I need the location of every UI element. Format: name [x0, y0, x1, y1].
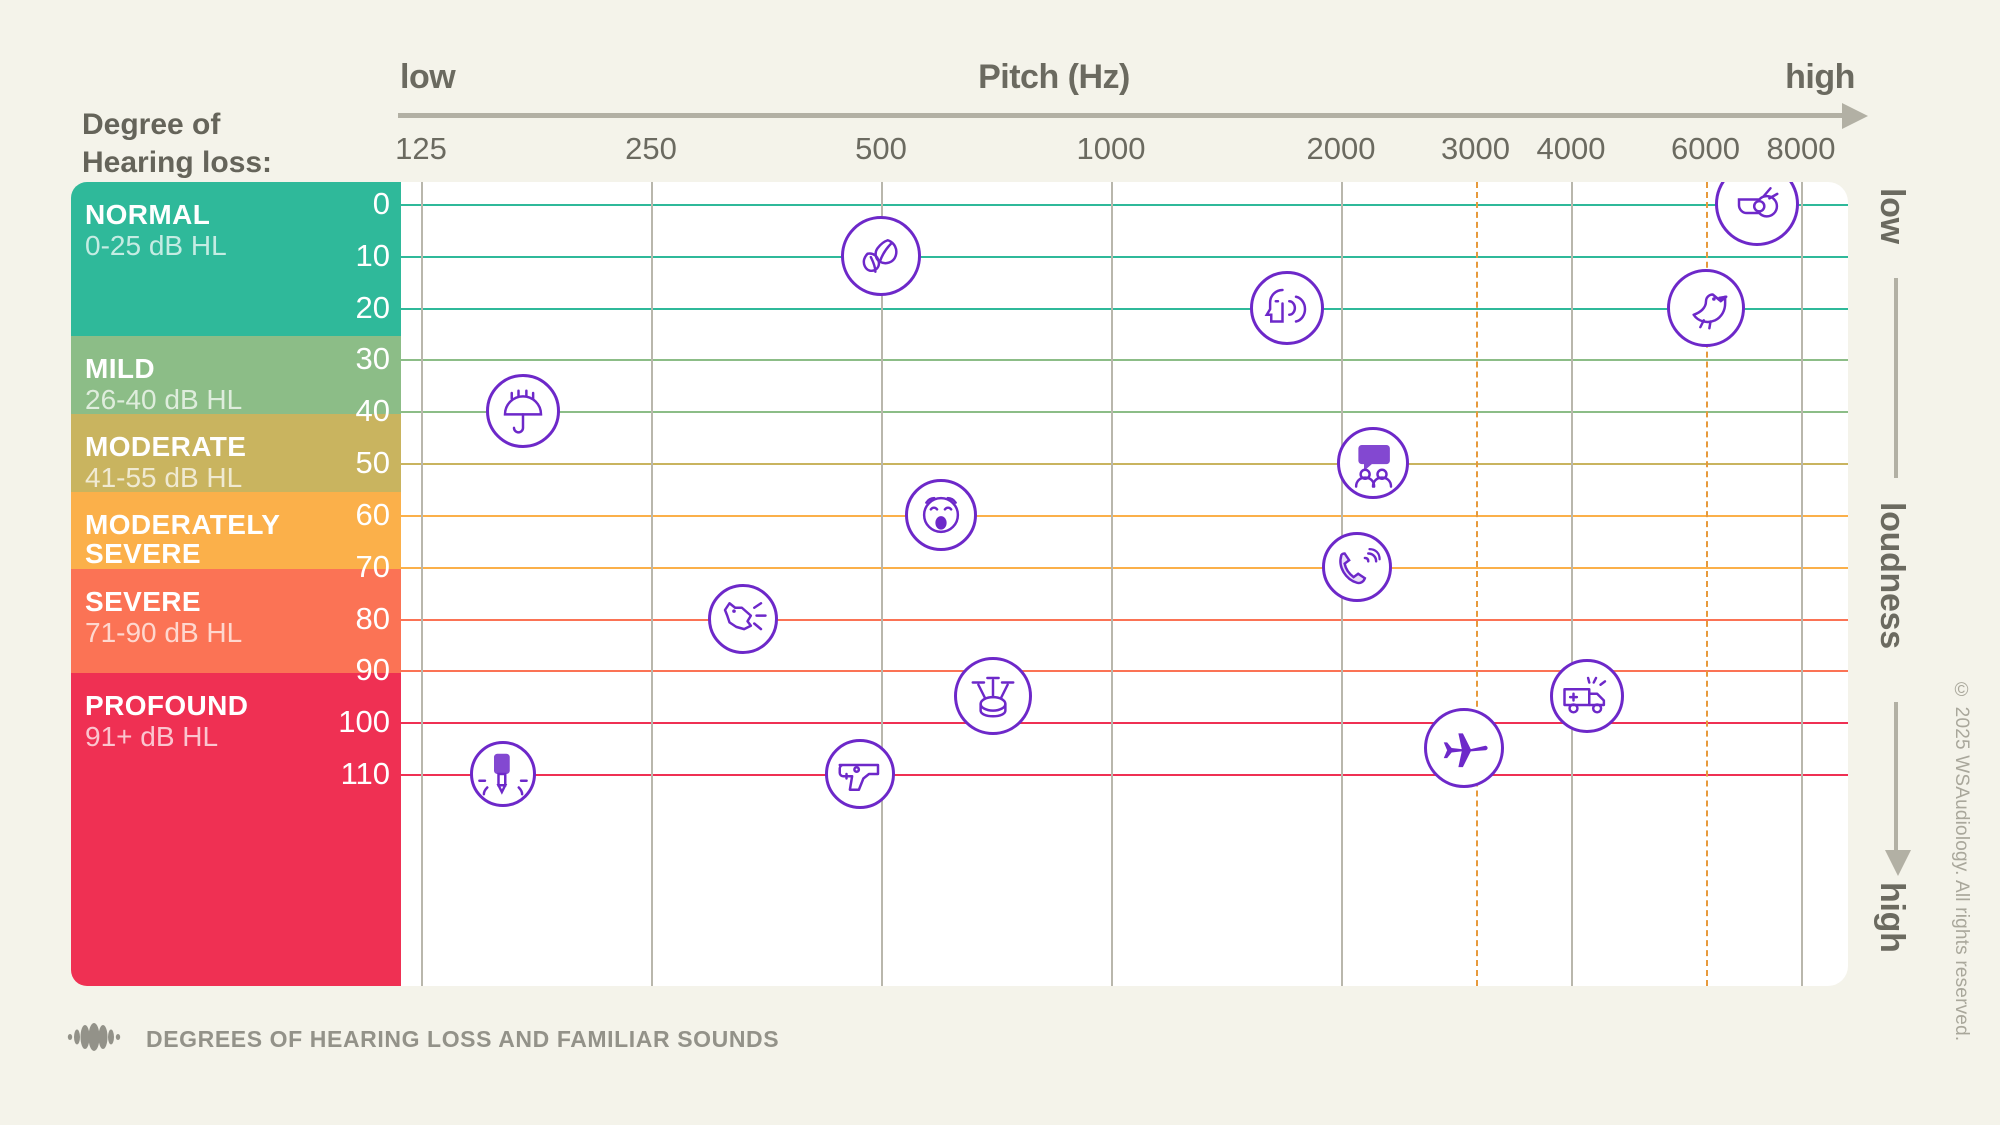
- gridline-h-70: [401, 567, 1848, 569]
- band-title: PROFOUND: [85, 691, 248, 721]
- conversation-icon: [1337, 427, 1409, 499]
- drums-icon: [954, 657, 1032, 735]
- pitch-tick-125: 125: [395, 131, 447, 167]
- loudness-tick-60: 60: [356, 497, 390, 533]
- whistle-icon: [1715, 182, 1799, 246]
- band-normal: NORMAL0-25 dB HL: [71, 182, 401, 336]
- pitch-high-label: high: [1785, 58, 1855, 97]
- soundwave-icon: [66, 1022, 124, 1057]
- gridline-h-60: [401, 515, 1848, 517]
- loudness-arrow-icon: [1885, 850, 1911, 876]
- heading-line-2: Hearing loss:: [82, 146, 272, 179]
- copyright-text: © 2025 WSAudiology. All rights reserved.: [1950, 680, 1972, 1041]
- pitch-tick-8000: 8000: [1767, 131, 1836, 167]
- loudness-high-label: high: [1872, 882, 1911, 953]
- band-range: 26-40 dB HL: [85, 385, 242, 416]
- baby-icon: [905, 479, 977, 551]
- gridline-v-1000: [1111, 182, 1113, 986]
- gridline-v-8000: [1801, 182, 1803, 986]
- pitch-tick-6000: 6000: [1671, 131, 1740, 167]
- degree-of-hearing-loss-heading: Degree of Hearing loss:: [82, 106, 272, 181]
- pitch-arrow-icon: [1842, 103, 1868, 129]
- loudness-axis-title: loudness: [1872, 502, 1911, 649]
- pitch-tick-4000: 4000: [1537, 131, 1606, 167]
- ambulance-icon: [1550, 659, 1624, 733]
- audiogram-plot: [401, 182, 1848, 986]
- gridline-h-10: [401, 256, 1848, 258]
- loudness-tick-20: 20: [356, 290, 390, 326]
- gridline-v-4000: [1571, 182, 1573, 986]
- gridline-h-40: [401, 411, 1848, 413]
- loudness-tick-40: 40: [356, 393, 390, 429]
- heading-line-1: Degree of: [82, 108, 220, 141]
- loudness-low-label: low: [1872, 188, 1911, 244]
- severity-band-legend: NORMAL0-25 dB HLMILD26-40 dB HLMODERATE4…: [71, 182, 401, 986]
- pitch-axis-title: Pitch (Hz): [978, 58, 1130, 97]
- gridline-v-125: [421, 182, 423, 986]
- gun-icon: [825, 739, 895, 809]
- loudness-tick-10: 10: [356, 238, 390, 274]
- band-range: 91+ dB HL: [85, 722, 218, 753]
- band-title: MODERATE: [85, 432, 246, 462]
- loudness-tick-70: 70: [356, 549, 390, 585]
- loudness-tick-0: 0: [373, 186, 390, 222]
- dog-icon: [708, 584, 778, 654]
- loudness-tick-90: 90: [356, 652, 390, 688]
- band-severe: SEVERE71-90 dB HL: [71, 569, 401, 673]
- pitch-tick-3000: 3000: [1441, 131, 1510, 167]
- band-moderate: MODERATE41-55 dB HL: [71, 414, 401, 492]
- pitch-tick-2000: 2000: [1307, 131, 1376, 167]
- loudness-tick-30: 30: [356, 341, 390, 377]
- band-range: 41-55 dB HL: [85, 463, 242, 494]
- airplane-icon: [1424, 708, 1504, 788]
- footer-caption: DEGREES OF HEARING LOSS AND FAMILIAR SOU…: [146, 1026, 779, 1053]
- loudness-axis-line-bottom: [1894, 702, 1898, 852]
- pitch-tick-500: 500: [855, 131, 907, 167]
- gridline-h-110: [401, 774, 1848, 776]
- gridline-h-20: [401, 308, 1848, 310]
- band-title: MILD: [85, 354, 155, 384]
- umbrella-icon: [486, 374, 560, 448]
- band-title: NORMAL: [85, 200, 210, 230]
- loudness-tick-110: 110: [341, 756, 390, 792]
- leaves-icon: [841, 216, 921, 296]
- band-moderately-severe: MODERATELYSEVERE56-70 dB HL: [71, 492, 401, 570]
- pitch-low-label: low: [400, 58, 455, 97]
- footer: DEGREES OF HEARING LOSS AND FAMILIAR SOU…: [66, 1022, 779, 1057]
- loudness-tick-80: 80: [356, 601, 390, 637]
- gridline-h-80: [401, 619, 1848, 621]
- gridline-h-30: [401, 359, 1848, 361]
- pitch-tick-250: 250: [625, 131, 677, 167]
- loudness-tick-50: 50: [356, 445, 390, 481]
- loudness-axis-line-top: [1894, 278, 1898, 478]
- telephone-icon: [1322, 532, 1392, 602]
- band-range: 71-90 dB HL: [85, 618, 242, 649]
- gridline-v-250: [651, 182, 653, 986]
- pitch-tick-1000: 1000: [1077, 131, 1146, 167]
- pitch-axis-line: [398, 113, 1848, 118]
- bird-icon: [1667, 269, 1745, 347]
- gridline-h-0: [401, 204, 1848, 206]
- band-title: SEVERE: [85, 587, 201, 617]
- gridline-h-90: [401, 670, 1848, 672]
- band-title: MODERATELYSEVERE: [85, 510, 280, 569]
- jackhammer-icon: [470, 741, 536, 807]
- loudness-axis: low loudness high: [1862, 182, 1942, 986]
- gridline-h-100: [401, 722, 1848, 724]
- gridline-v-3000: [1476, 182, 1478, 986]
- gridline-h-50: [401, 463, 1848, 465]
- band-mild: MILD26-40 dB HL: [71, 336, 401, 414]
- whisper-icon: [1250, 271, 1324, 345]
- gridline-v-500: [881, 182, 883, 986]
- loudness-tick-100: 100: [338, 704, 390, 740]
- band-range: 0-25 dB HL: [85, 231, 227, 262]
